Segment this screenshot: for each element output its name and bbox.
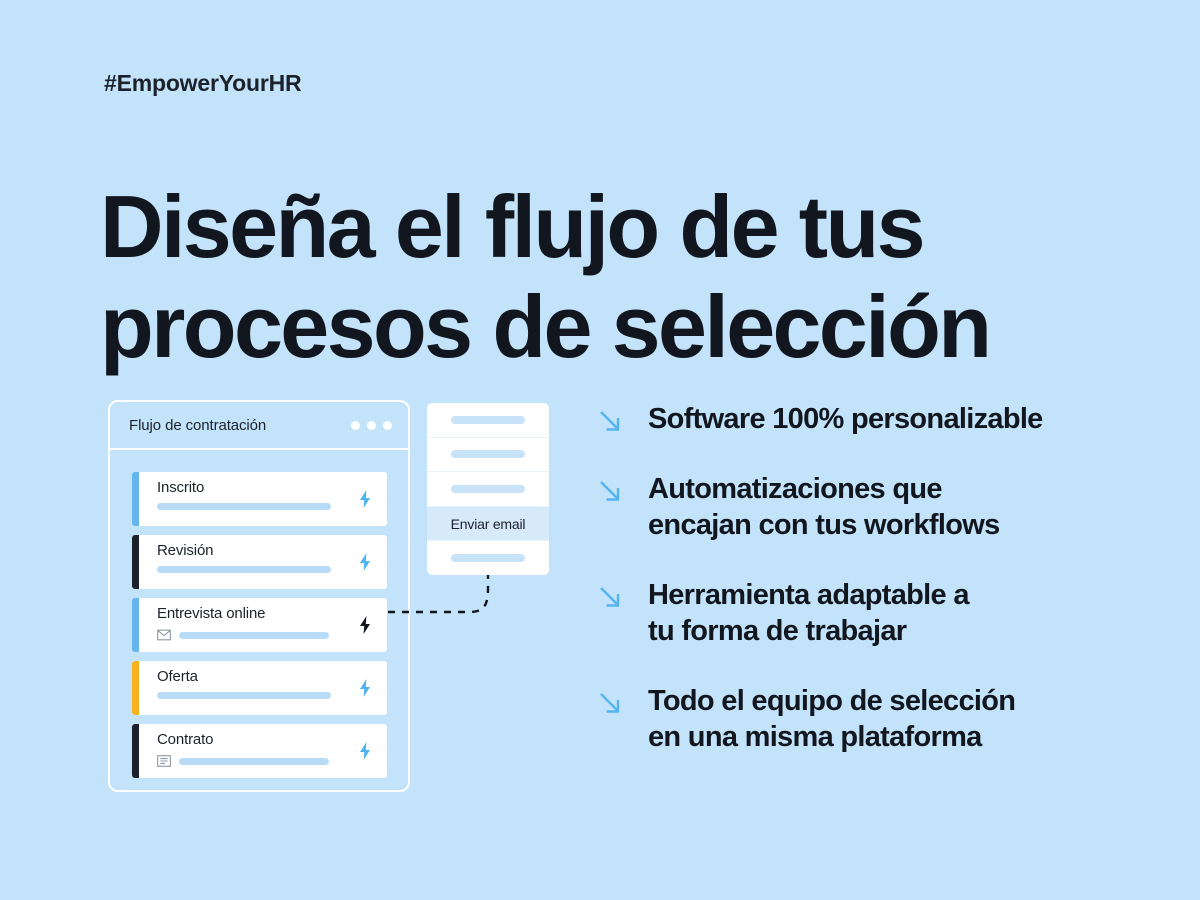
stage-accent-bar <box>132 535 139 589</box>
lightning-bolt-icon[interactable] <box>359 679 371 697</box>
placeholder-bar <box>451 554 525 562</box>
stage-body: Inscrito <box>139 472 387 526</box>
placeholder-bar <box>451 485 525 493</box>
benefit-text: Todo el equipo de selección en una misma… <box>648 684 1015 756</box>
stage-meta <box>157 629 387 641</box>
benefit-text: Software 100% personalizable <box>648 402 1043 438</box>
stage-accent-bar <box>132 598 139 652</box>
arrow-down-right-icon <box>598 479 624 505</box>
dot-3 <box>383 421 392 430</box>
stage-body: Contrato <box>139 724 387 778</box>
flow-panel-title: Flujo de contratación <box>129 417 266 434</box>
stage-card-revision[interactable]: Revisión <box>132 535 387 589</box>
benefit-text: Herramienta adaptable a tu forma de trab… <box>648 578 969 650</box>
three-dots-icon[interactable] <box>351 421 392 430</box>
hashtag-label: #EmpowerYourHR <box>104 70 301 97</box>
lightning-bolt-icon[interactable] <box>359 742 371 760</box>
stage-accent-bar <box>132 661 139 715</box>
lightning-bolt-icon[interactable] <box>359 616 371 634</box>
stage-progress-bar <box>179 758 329 765</box>
stage-meta <box>157 692 387 699</box>
popup-option-enviar-email[interactable]: Enviar email <box>427 507 549 542</box>
stage-meta <box>157 566 387 573</box>
page-title-line-2: procesos de selección <box>100 277 1110 377</box>
stage-accent-bar <box>132 724 139 778</box>
stage-list: Inscrito Revisión <box>110 450 408 796</box>
lightning-bolt-icon[interactable] <box>359 490 371 508</box>
stage-card-inscrito[interactable]: Inscrito <box>132 472 387 526</box>
envelope-icon <box>157 629 171 641</box>
stage-meta <box>157 755 387 767</box>
stage-card-entrevista-online[interactable]: Entrevista online <box>132 598 387 652</box>
stage-progress-bar <box>179 632 329 639</box>
email-action-popup: Enviar email <box>427 403 549 575</box>
benefit-item-2: Automatizaciones que encajan con tus wor… <box>598 472 1118 544</box>
stage-progress-bar <box>157 566 331 573</box>
benefits-list: Software 100% personalizable Automatizac… <box>598 402 1118 756</box>
page-title: Diseña el flujo de tus procesos de selec… <box>100 177 1110 378</box>
stage-name: Inscrito <box>157 478 387 497</box>
arrow-down-right-icon <box>598 585 624 611</box>
stage-card-contrato[interactable]: Contrato <box>132 724 387 778</box>
flow-panel-header: Flujo de contratación <box>110 402 408 450</box>
placeholder-bar <box>451 450 525 458</box>
benefit-text: Automatizaciones que encajan con tus wor… <box>648 472 1000 544</box>
stage-body: Revisión <box>139 535 387 589</box>
stage-progress-bar <box>157 503 331 510</box>
stage-name: Contrato <box>157 730 387 749</box>
placeholder-bar <box>451 416 525 424</box>
benefit-item-1: Software 100% personalizable <box>598 402 1118 438</box>
lightning-bolt-icon[interactable] <box>359 553 371 571</box>
page-title-line-1: Diseña el flujo de tus <box>100 177 1110 277</box>
arrow-down-right-icon <box>598 691 624 717</box>
stage-body: Oferta <box>139 661 387 715</box>
stage-name: Oferta <box>157 667 387 686</box>
popup-row-placeholder-4[interactable] <box>427 541 549 575</box>
stage-body: Entrevista online <box>139 598 387 652</box>
popup-row-placeholder-2[interactable] <box>427 438 549 473</box>
dot-1 <box>351 421 360 430</box>
document-icon <box>157 755 171 767</box>
stage-accent-bar <box>132 472 139 526</box>
stage-name: Entrevista online <box>157 604 387 623</box>
stage-progress-bar <box>157 692 331 699</box>
stage-meta <box>157 503 387 510</box>
benefit-item-4: Todo el equipo de selección en una misma… <box>598 684 1118 756</box>
arrow-down-right-icon <box>598 409 624 435</box>
benefit-item-3: Herramienta adaptable a tu forma de trab… <box>598 578 1118 650</box>
hiring-flow-panel: Flujo de contratación Inscrito <box>108 400 410 792</box>
dot-2 <box>367 421 376 430</box>
stage-name: Revisión <box>157 541 387 560</box>
popup-row-placeholder-1[interactable] <box>427 403 549 438</box>
popup-row-placeholder-3[interactable] <box>427 472 549 507</box>
stage-card-oferta[interactable]: Oferta <box>132 661 387 715</box>
